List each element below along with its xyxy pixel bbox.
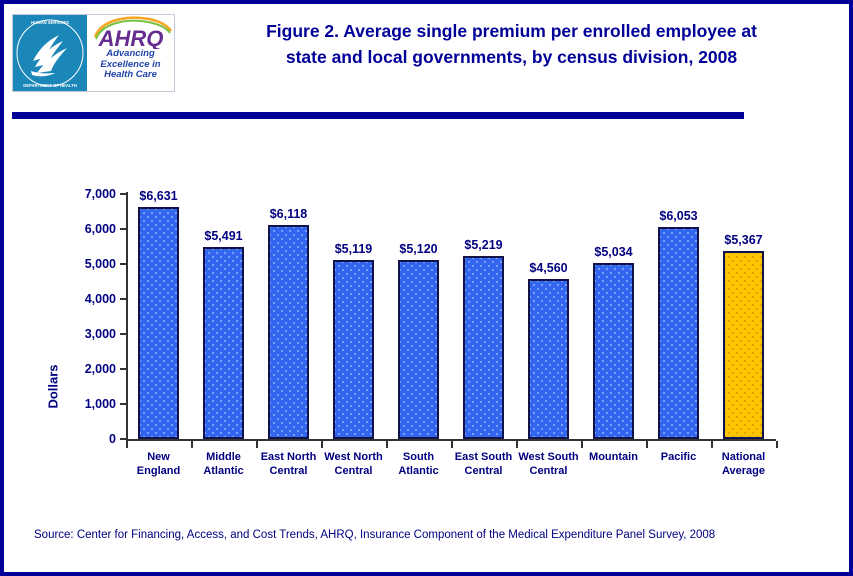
- x-tick: [776, 441, 778, 448]
- x-tick: [386, 441, 388, 448]
- x-axis-label-line: Central: [504, 464, 594, 478]
- x-axis-label-line: Average: [699, 464, 789, 478]
- y-tick: [120, 368, 126, 370]
- svg-text:HUMAN SERVICES: HUMAN SERVICES: [31, 20, 69, 25]
- bar: [658, 227, 699, 439]
- chart-area: Dollars 01,0002,0003,0004,0005,0006,0007…: [4, 124, 849, 514]
- x-tick: [581, 441, 583, 448]
- agency-logo-block: HUMAN SERVICES DEPARTMENT OF HEALTH AHRQ…: [12, 14, 175, 92]
- bar: [138, 207, 179, 439]
- y-tick-label: 5,000: [85, 257, 116, 271]
- ahrq-tagline-line3: Health Care: [87, 70, 174, 81]
- y-tick-label: 0: [109, 432, 116, 446]
- ahrq-logo: AHRQ Advancing Excellence in Health Care: [87, 15, 174, 91]
- x-tick: [516, 441, 518, 448]
- bar: [268, 225, 309, 439]
- figure-header: HUMAN SERVICES DEPARTMENT OF HEALTH AHRQ…: [4, 4, 849, 102]
- bar-value-label: $5,367: [699, 233, 789, 247]
- bar: [593, 263, 634, 439]
- ahrq-tagline: Advancing Excellence in Health Care: [87, 49, 174, 81]
- svg-text:AHRQ: AHRQ: [98, 26, 164, 49]
- bar-value-label: $6,053: [634, 209, 724, 223]
- y-tick: [120, 333, 126, 335]
- y-tick: [120, 298, 126, 300]
- y-tick-label: 1,000: [85, 397, 116, 411]
- x-tick: [451, 441, 453, 448]
- bar-value-label: $4,560: [504, 261, 594, 275]
- figure-title-line2: state and local governments, by census d…: [184, 44, 839, 70]
- bar: [528, 279, 569, 439]
- y-axis-title: Dollars: [46, 332, 61, 442]
- bar-value-label: $5,219: [439, 238, 529, 252]
- bar-value-label: $6,118: [244, 207, 334, 221]
- bar: [203, 247, 244, 439]
- y-tick: [120, 263, 126, 265]
- y-tick-label: 6,000: [85, 222, 116, 236]
- source-note: Source: Center for Financing, Access, an…: [34, 529, 834, 541]
- bar: [398, 260, 439, 439]
- title-divider-rule: [12, 112, 744, 119]
- bar: [463, 256, 504, 439]
- figure-title-line1: Figure 2. Average single premium per enr…: [184, 18, 839, 44]
- y-axis-line: [126, 192, 128, 441]
- bar-value-label: $5,491: [179, 229, 269, 243]
- plot-area: 01,0002,0003,0004,0005,0006,0007,000 $6,…: [126, 192, 776, 441]
- hhs-seal-icon: HUMAN SERVICES DEPARTMENT OF HEALTH: [13, 15, 87, 91]
- y-tick-label: 7,000: [85, 187, 116, 201]
- figure-frame: HUMAN SERVICES DEPARTMENT OF HEALTH AHRQ…: [0, 0, 853, 576]
- y-tick: [120, 228, 126, 230]
- svg-text:DEPARTMENT OF HEALTH: DEPARTMENT OF HEALTH: [23, 83, 77, 88]
- y-tick-label: 2,000: [85, 362, 116, 376]
- x-axis-label: NationalAverage: [699, 450, 789, 478]
- bar: [333, 260, 374, 439]
- bar-value-label: $5,034: [569, 245, 659, 259]
- y-tick: [120, 438, 126, 440]
- x-tick: [321, 441, 323, 448]
- figure-title: Figure 2. Average single premium per enr…: [184, 18, 839, 70]
- y-tick: [120, 403, 126, 405]
- x-tick: [711, 441, 713, 448]
- bar-value-label: $6,631: [114, 189, 204, 203]
- y-tick-label: 3,000: [85, 327, 116, 341]
- x-axis-label-line: National: [699, 450, 789, 464]
- y-tick-label: 4,000: [85, 292, 116, 306]
- x-tick: [191, 441, 193, 448]
- bar: [723, 251, 764, 439]
- x-tick: [126, 441, 128, 448]
- x-tick: [646, 441, 648, 448]
- x-tick: [256, 441, 258, 448]
- ahrq-tagline-line1: Advancing: [87, 49, 174, 60]
